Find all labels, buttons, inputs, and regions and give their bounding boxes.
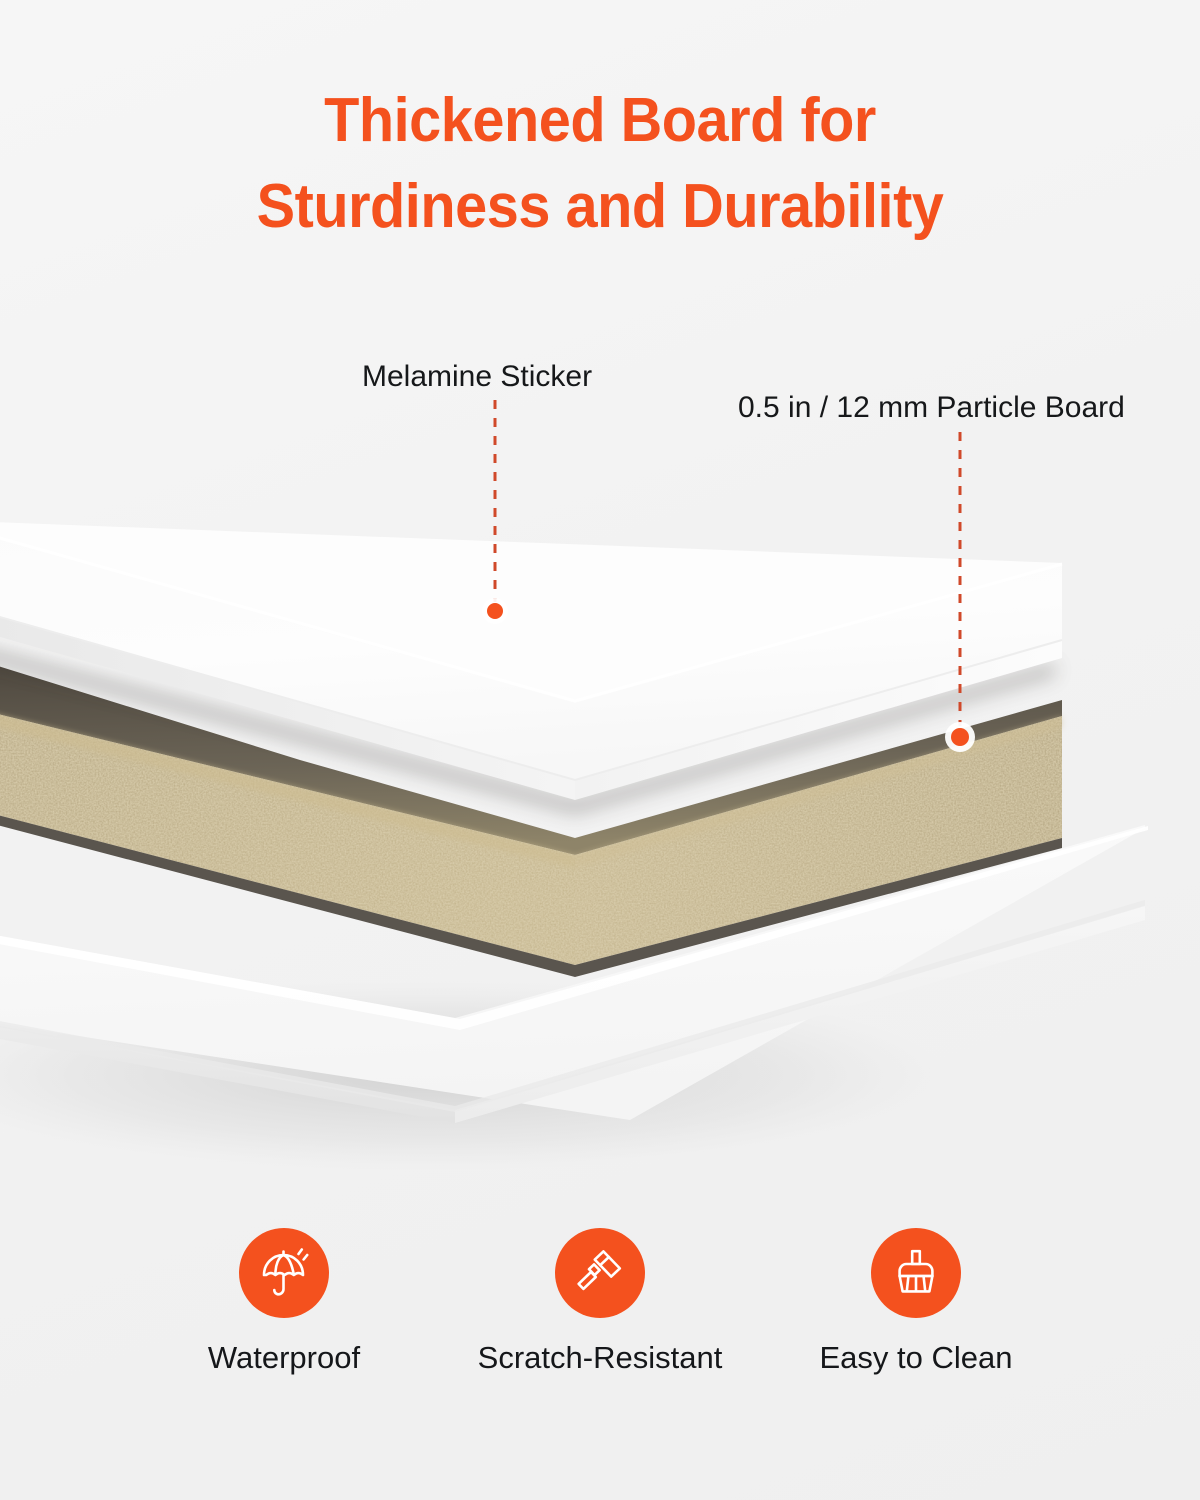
title-line-1: Thickened Board for — [42, 78, 1158, 164]
feature-scratch-resistant: Scratch-Resistant — [442, 1228, 758, 1376]
callout-label-particle: 0.5 in / 12 mm Particle Board — [738, 391, 1125, 424]
title-line-2: Sturdiness and Durability — [42, 164, 1158, 250]
feature-label-easy-to-clean: Easy to Clean — [820, 1340, 1013, 1376]
feature-badge-easy-to-clean — [871, 1228, 961, 1318]
feature-easy-to-clean: Easy to Clean — [758, 1228, 1074, 1376]
callout-label-melamine: Melamine Sticker — [362, 360, 592, 393]
feature-label-scratch-resistant: Scratch-Resistant — [478, 1340, 723, 1376]
feature-waterproof: Waterproof — [126, 1228, 442, 1376]
infographic-canvas: Thickened Board for Sturdiness and Durab… — [0, 0, 1200, 1500]
feature-badge-waterproof — [239, 1228, 329, 1318]
page-title: Thickened Board for Sturdiness and Durab… — [0, 78, 1200, 249]
hammer-icon — [572, 1245, 628, 1301]
umbrella-icon — [256, 1245, 312, 1301]
feature-label-waterproof: Waterproof — [208, 1340, 360, 1376]
feature-list: Waterproof Scratch-Resist — [0, 1228, 1200, 1376]
feature-badge-scratch-resistant — [555, 1228, 645, 1318]
brush-icon — [888, 1245, 944, 1301]
